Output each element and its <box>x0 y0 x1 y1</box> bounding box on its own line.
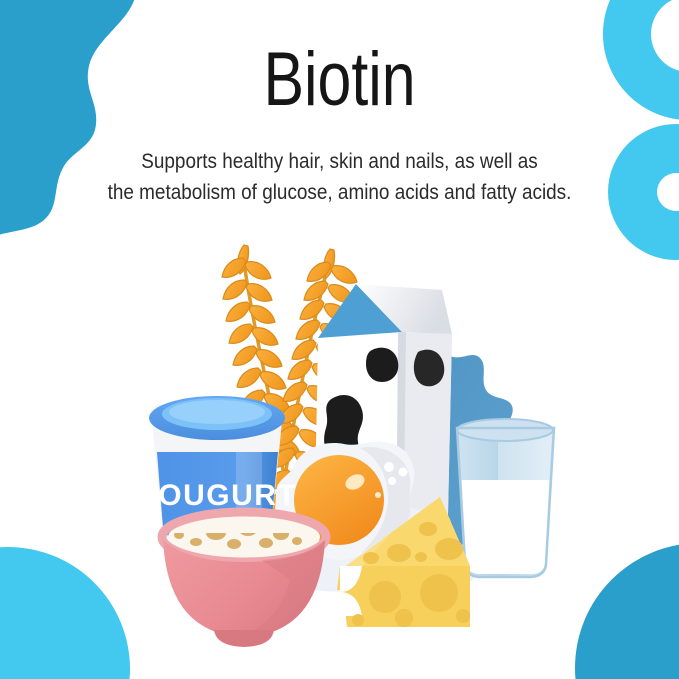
cereal-bowl-icon <box>162 512 326 647</box>
milk-glass-icon <box>455 419 560 590</box>
biotin-poster: Biotin Supports healthy hair, skin and n… <box>0 0 679 679</box>
food-illustration: YOUGURT <box>0 0 679 679</box>
yogurt-label-text: YOUGURT <box>137 479 298 512</box>
